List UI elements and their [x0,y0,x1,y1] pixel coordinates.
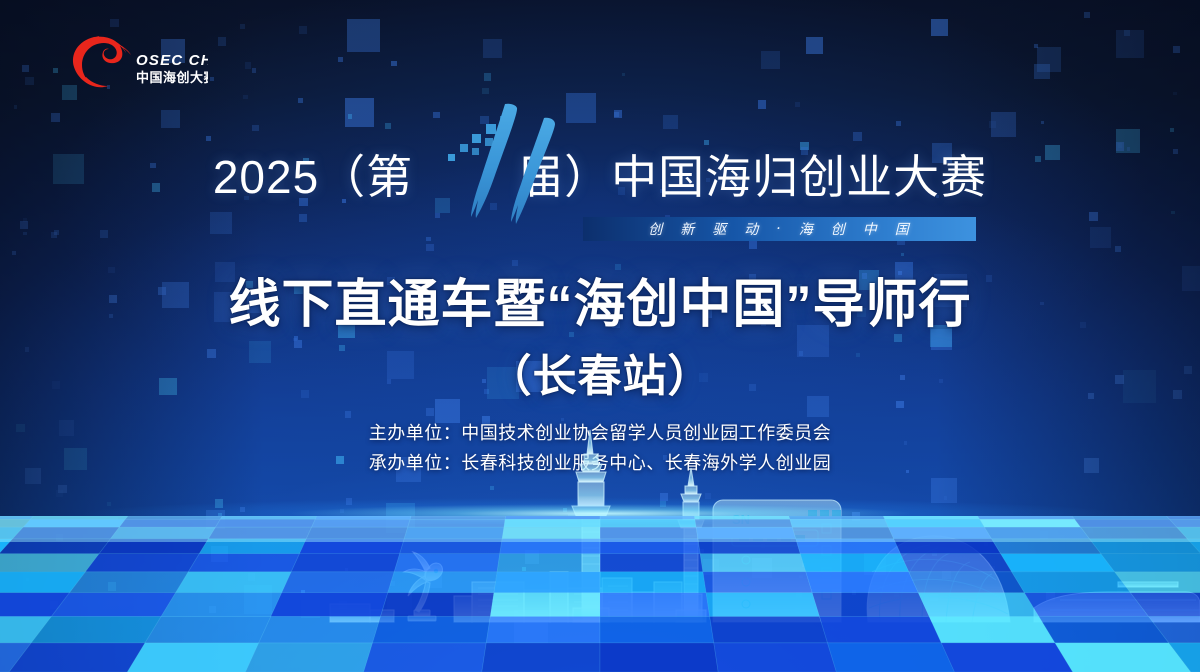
slogan-char-5: 海 [799,219,815,239]
slogan-char-1: 新 [680,219,696,239]
slogan-bar: 创新驱动·海创中国 [583,217,976,241]
slogan-char-6: 创 [831,219,847,239]
organizer-host-value: 中国技术创业协会留学人员创业园工作委员会 [461,423,831,443]
organizer-coorganizer-value: 长春科技创业服务中心、长春海外学人创业园 [461,453,831,473]
poster-canvas: OSEC CHINA 中国海创大赛 2025（第 届）中国海归创业大赛 [0,0,1200,672]
organizer-coorganizer-line: 承办单位：长春科技创业服务中心、长春海外学人创业园 [0,448,1200,478]
slogan-char-8: 国 [895,219,911,239]
svg-text:中国海创大赛: 中国海创大赛 [136,70,208,86]
title-suffix: 届）中国海归创业大赛 [517,154,987,200]
headline-line-1: 线下直通车暨“海创中国”导师行 [0,262,1200,337]
osec-flame-logo: OSEC CHINA 中国海创大赛 [58,33,208,91]
organizer-host-label: 主办单位： [369,423,462,443]
title-prefix: 2025（第 [213,154,413,200]
slogan-char-3: 动 [744,219,760,239]
slogan-char-7: 中 [863,219,879,239]
slogan-char-4: · [776,221,782,237]
event-title-row: 2025（第 届）中国海归创业大赛 [0,146,1200,208]
slogan-char-0: 创 [648,219,664,239]
organizer-host-line: 主办单位：中国技术创业协会留学人员创业园工作委员会 [0,418,1200,448]
svg-text:OSEC CHINA: OSEC CHINA [136,52,208,69]
organizer-coorganizer-label: 承办单位： [369,453,462,473]
organizer-block: 主办单位：中国技术创业协会留学人员创业园工作委员会 承办单位：长春科技创业服务中… [0,418,1200,478]
headline-line-2: （长春站） [0,340,1200,404]
slogan-char-2: 驱 [712,219,728,239]
slogan-text: 创新驱动·海创中国 [583,217,976,241]
